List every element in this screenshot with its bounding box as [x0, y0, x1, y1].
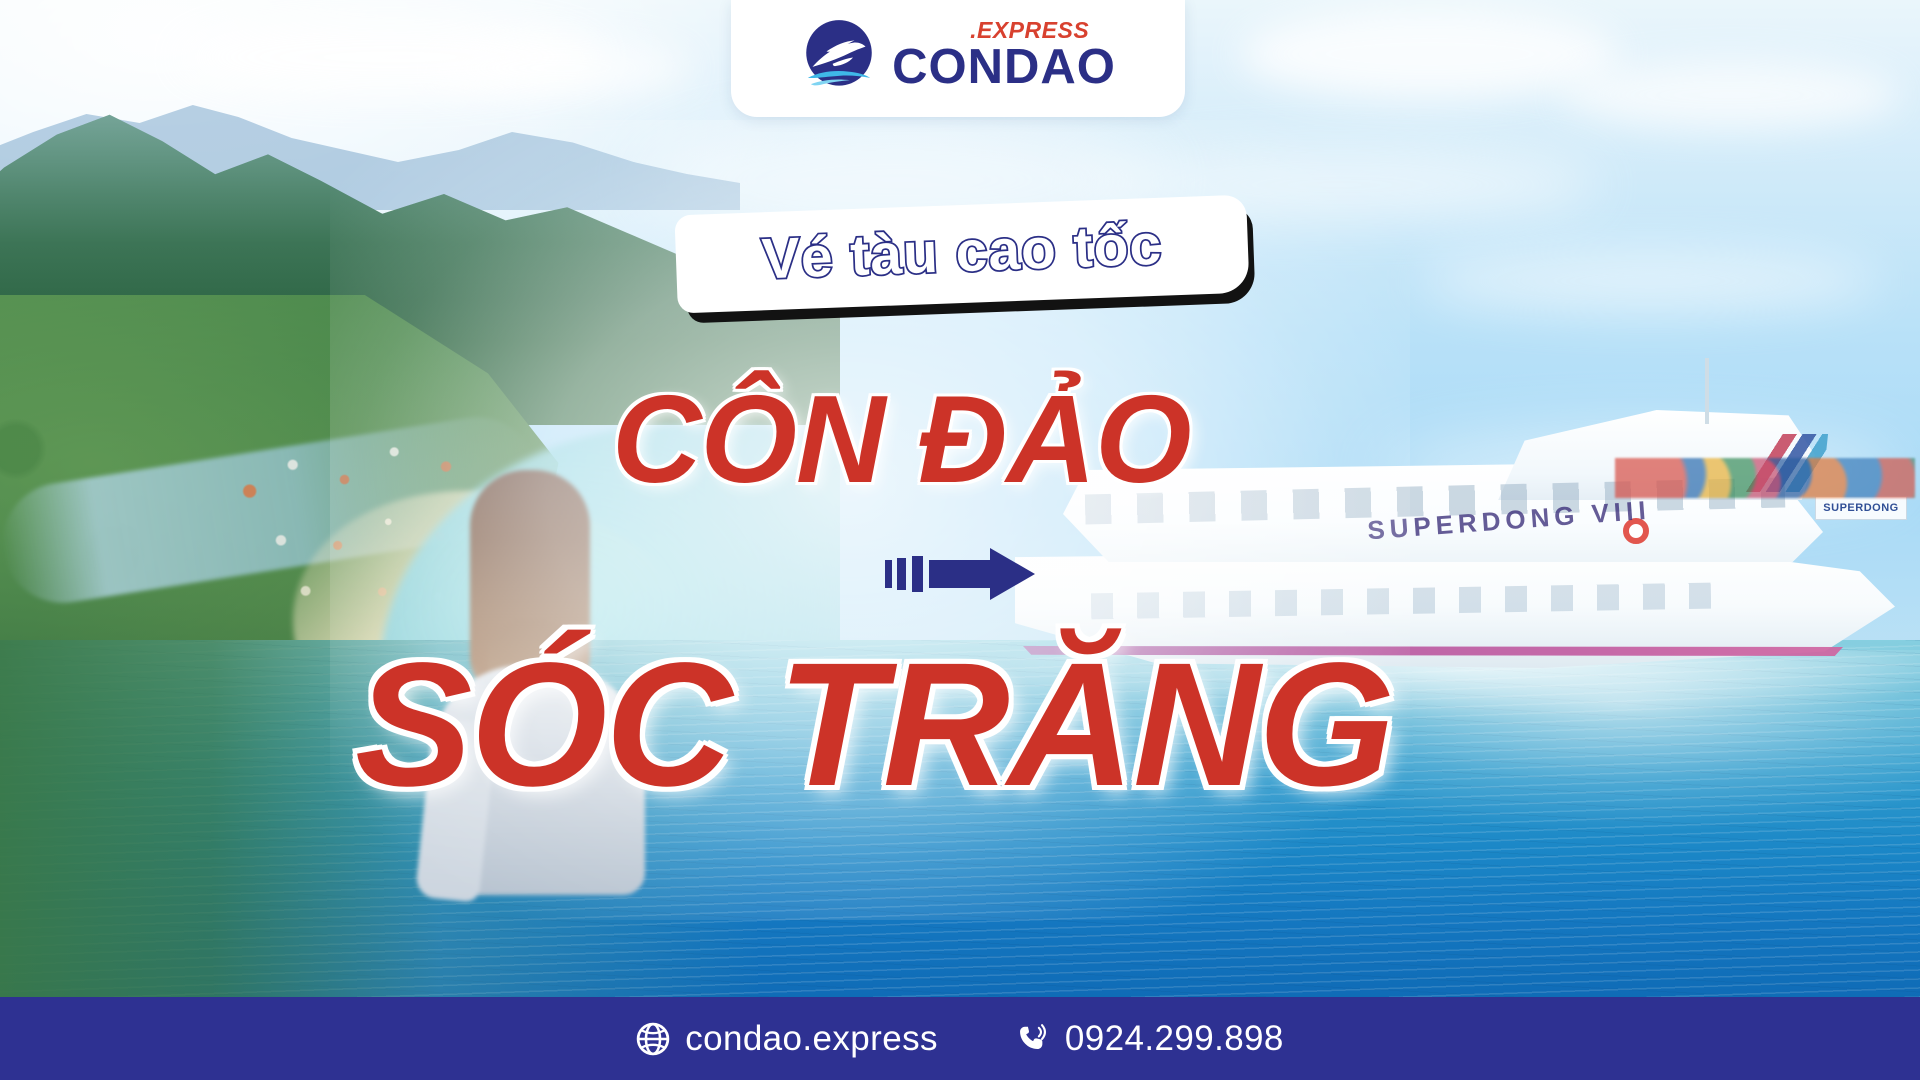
phone-text: 0924.299.898: [1065, 1019, 1284, 1059]
cloud: [430, 40, 690, 96]
speedboat-wave-logo-icon: [800, 17, 878, 95]
ferry-mast: [1705, 358, 1709, 424]
contact-footer-bar: condao.express 0924.299.898: [0, 997, 1920, 1080]
phone-ring-icon: [1016, 1022, 1050, 1056]
banner-stage: SUPERDONG SUPERDONG VIII .EXPRESS CONDAO: [0, 0, 1920, 1080]
ribbon-plate: Vé tàu cao tốc: [674, 195, 1249, 314]
brand-suffix: .EXPRESS: [970, 19, 1089, 42]
right-arrow-icon: [885, 548, 1035, 600]
brand-wordmark: .EXPRESS CONDAO: [892, 19, 1116, 92]
ribbon-label: Vé tàu cao tốc: [676, 205, 1264, 323]
ferry-brand-badge: SUPERDONG: [1815, 496, 1907, 520]
destination-heading: SÓC TRĂNG: [355, 630, 1615, 820]
origin-heading: CÔN ĐẢO: [612, 370, 1372, 510]
cloud: [1420, 250, 1880, 312]
globe-icon: [636, 1022, 670, 1056]
phone-contact[interactable]: 0924.299.898: [1016, 1019, 1284, 1059]
ribbon-text: Vé tàu cao tốc: [761, 212, 1164, 293]
cloud: [1240, 8, 1620, 100]
brand-logo-panel[interactable]: .EXPRESS CONDAO: [731, 0, 1185, 117]
website-text: condao.express: [685, 1019, 938, 1059]
brand-name: CONDAO: [892, 43, 1116, 92]
cloud: [1560, 60, 1900, 130]
website-contact[interactable]: condao.express: [636, 1019, 938, 1059]
